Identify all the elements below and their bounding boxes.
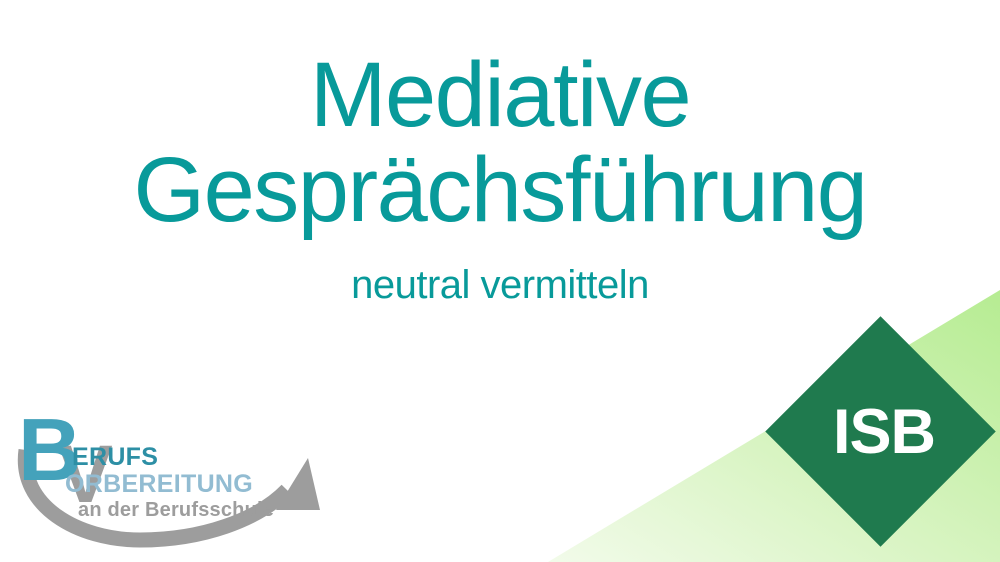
presentation-slide: ISB Mediative Gesprächsführung neutral v…: [0, 0, 1000, 562]
title-block: Mediative Gesprächsführung neutral vermi…: [0, 48, 1000, 308]
bv-tagline: an der Berufsschule: [78, 500, 274, 520]
bv-word-vorbereitung: ORBEREITUNG: [65, 472, 253, 497]
isb-logo: ISB: [766, 317, 996, 547]
page-subtitle: neutral vermitteln: [0, 262, 1000, 308]
bv-word-berufs: ERUFS: [72, 445, 158, 470]
berufsvorbereitung-logo: V B ERUFS ORBEREITUNG an der Berufsschul…: [8, 398, 338, 558]
isb-wordmark: ISB: [766, 317, 996, 547]
page-title-line-1: Mediative: [0, 48, 1000, 143]
page-title-line-2: Gesprächsführung: [0, 143, 1000, 238]
